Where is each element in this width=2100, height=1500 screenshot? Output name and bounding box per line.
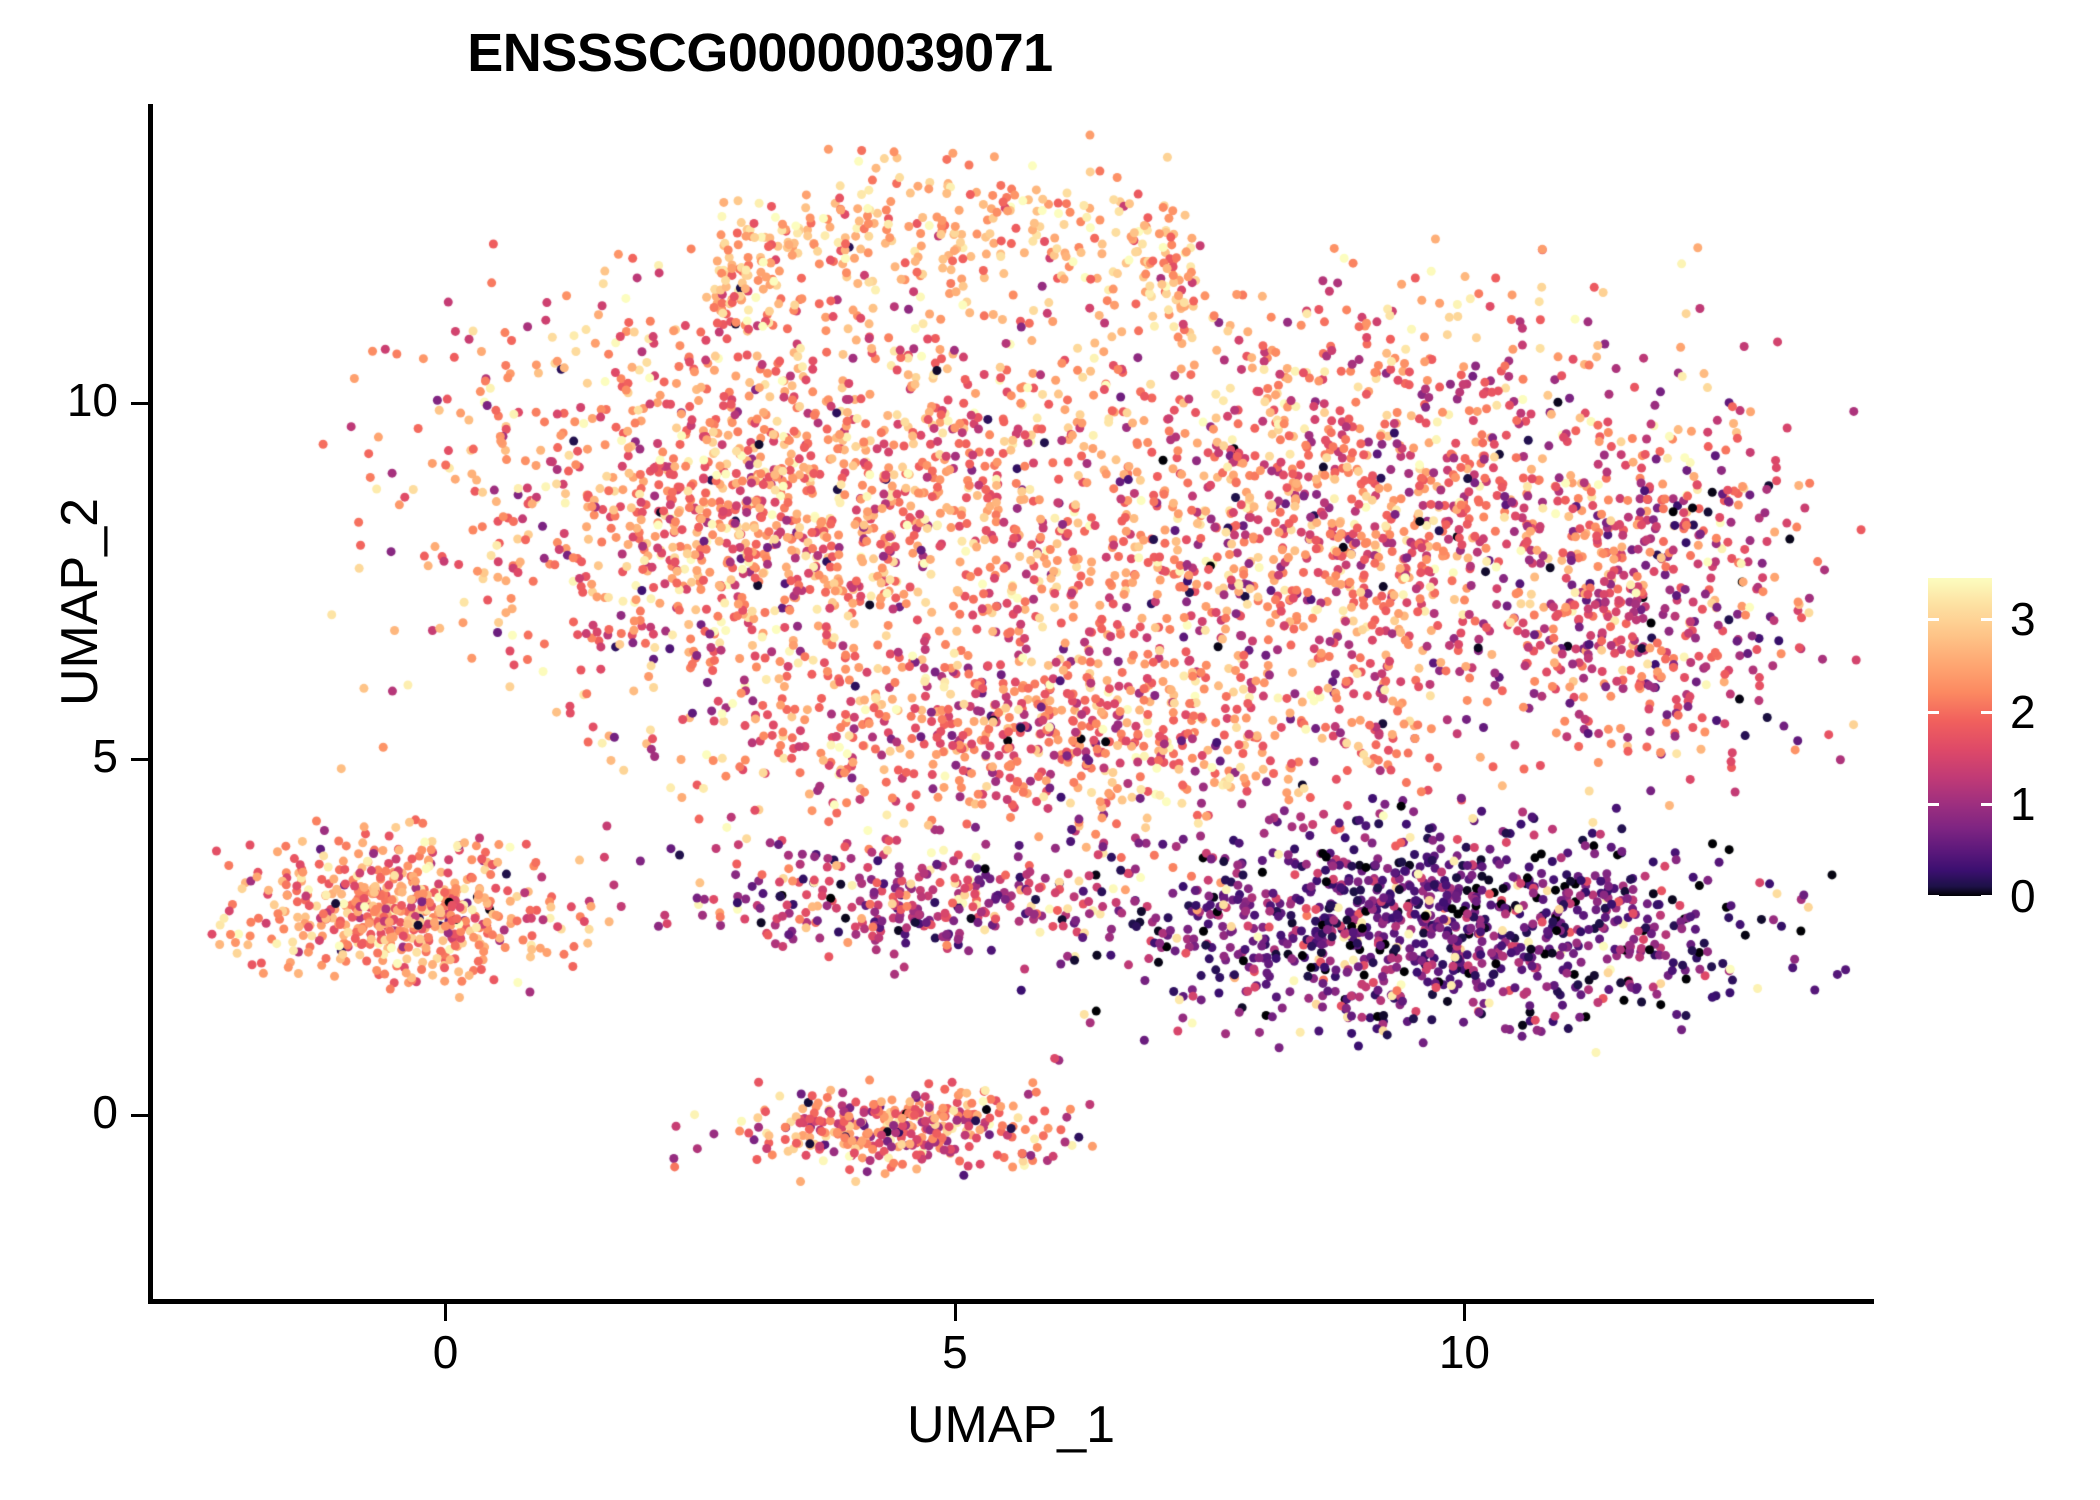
colorbar-tick-label: 2 bbox=[2010, 685, 2036, 739]
x-tick-label: 10 bbox=[1439, 1325, 1490, 1379]
y-tick-mark bbox=[131, 402, 148, 405]
colorbar-tick-label: 0 bbox=[2010, 869, 2036, 923]
x-axis-label: UMAP_1 bbox=[150, 1395, 1872, 1455]
colorbar-tick-mark bbox=[1928, 803, 1939, 806]
x-tick-label: 0 bbox=[433, 1325, 459, 1379]
colorbar-tick-mark bbox=[1981, 803, 1992, 806]
y-tick-mark bbox=[131, 758, 148, 761]
page-title: ENSSSCG00000039071 bbox=[0, 22, 1520, 84]
colorbar-tick-mark bbox=[1928, 895, 1939, 898]
scatter-plot-canvas bbox=[150, 104, 1872, 1300]
x-tick-label: 5 bbox=[942, 1325, 968, 1379]
colorbar-tick-mark bbox=[1981, 895, 1992, 898]
x-tick-mark bbox=[444, 1304, 447, 1321]
y-axis-label: UMAP_2 bbox=[50, 252, 110, 952]
colorbar-gradient bbox=[1928, 578, 1992, 896]
x-tick-mark bbox=[954, 1304, 957, 1321]
colorbar-tick-label: 3 bbox=[2010, 592, 2036, 646]
colorbar-tick-mark bbox=[1981, 618, 1992, 621]
umap-feature-plot: ENSSSCG00000039071 0510 0510 UMAP_1 UMAP… bbox=[0, 0, 2100, 1500]
y-tick-mark bbox=[131, 1114, 148, 1117]
colorbar-tick-mark bbox=[1928, 711, 1939, 714]
x-tick-mark bbox=[1463, 1304, 1466, 1321]
colorbar-tick-mark bbox=[1981, 711, 1992, 714]
colorbar-legend: 0123 bbox=[1928, 578, 2088, 908]
colorbar-tick-label: 1 bbox=[2010, 777, 2036, 831]
y-tick-label: 0 bbox=[0, 1085, 118, 1139]
colorbar-tick-mark bbox=[1928, 618, 1939, 621]
